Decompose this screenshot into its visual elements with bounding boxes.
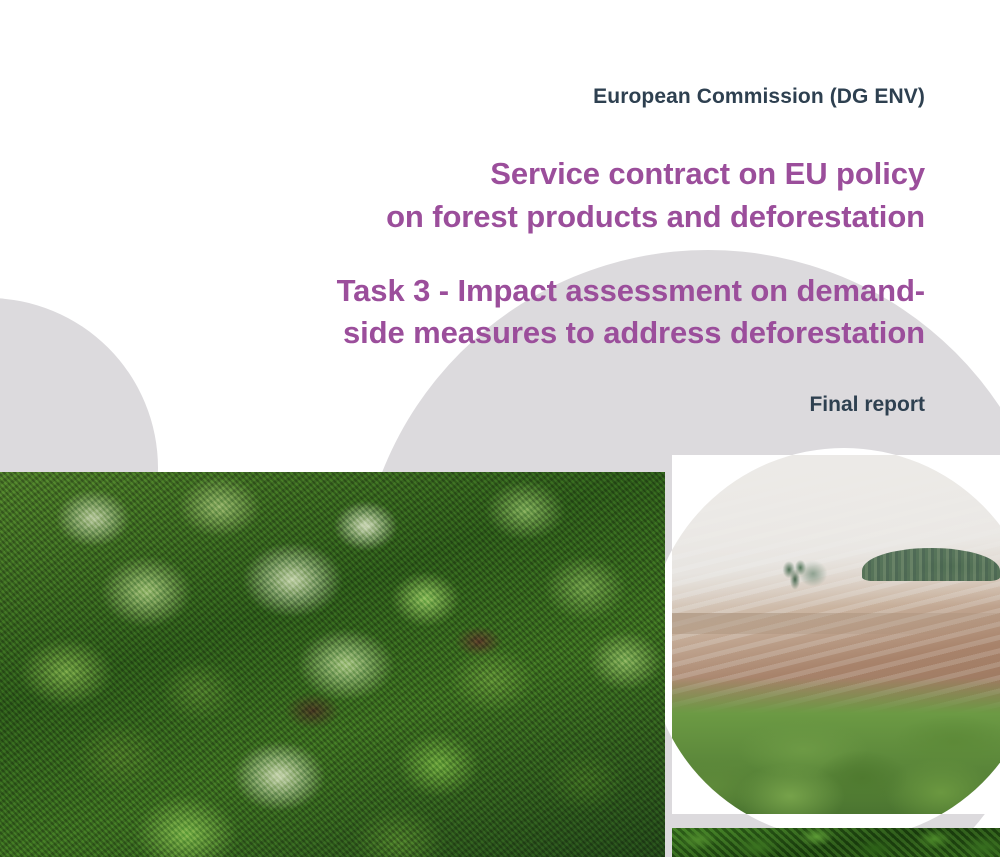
title-line-2: on forest products and deforestation	[386, 199, 925, 234]
photo-forest-canopy-strip	[672, 828, 1000, 857]
lone-tree-icon	[780, 556, 810, 595]
organisation-line: European Commission (DG ENV)	[0, 0, 925, 109]
photo-aerial-rainforest	[0, 472, 665, 857]
title-line-1: Service contract on EU policy	[490, 156, 925, 191]
slope-ridge-shading	[672, 613, 1000, 635]
cover-page: European Commission (DG ENV) Service con…	[0, 0, 1000, 857]
document-subtitle: Task 3 - Impact assessment on demand-sid…	[0, 239, 925, 356]
cover-text-block: European Commission (DG ENV) Service con…	[0, 0, 925, 417]
subtitle-line-2: side measures to address deforestation	[343, 315, 925, 350]
canopy-texture-overlay	[0, 472, 665, 857]
photo-deforested-hillside	[672, 455, 1000, 814]
report-type-label: Final report	[0, 355, 925, 417]
document-title: Service contract on EU policyon forest p…	[0, 109, 925, 239]
subtitle-line-1: Task 3 - Impact assessment on demand-	[337, 273, 925, 308]
sky-haze-overlay	[672, 455, 1000, 606]
